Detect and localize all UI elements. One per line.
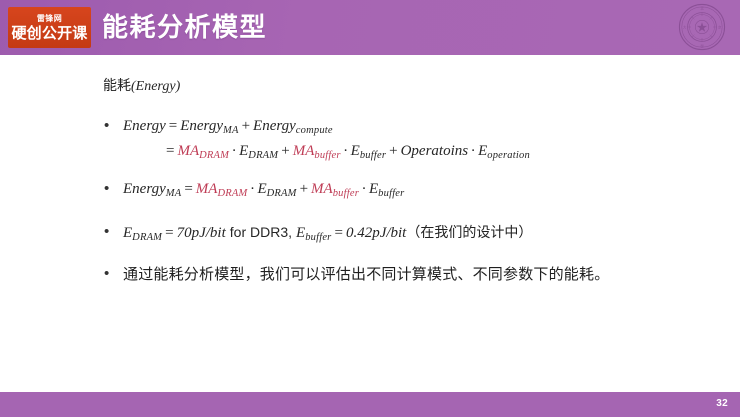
term-ma-buffer-sub: buffer — [314, 150, 340, 161]
svg-text:北: 北 — [700, 6, 704, 11]
term-ma-buffer-base: MA — [293, 143, 315, 159]
lead-line: 能耗(Energy) — [103, 75, 180, 98]
term-e-buffer-sub: buffer — [378, 188, 404, 199]
formula-energy-ma: EnergyMA=MADRAM·EDRAM+MAbuffer·Ebuffer — [123, 178, 404, 202]
term-ma-buffer-sub: buffer — [333, 188, 359, 199]
summary-text: 通过能耗分析模型，我们可以评估出不同计算模式、不同参数下的能耗。 — [123, 263, 609, 286]
formula-line-1: EnergyMA=MADRAM·EDRAM+MAbuffer·Ebuffer — [123, 178, 404, 202]
note-our-design: （在我们的设计中） — [406, 224, 532, 240]
formula-line-1: EDRAM=70pJ/bitfor DDR3,Ebuffer=0.42pJ/bi… — [123, 221, 532, 246]
lead-line-en: (Energy) — [131, 79, 180, 94]
term-ma-dram-sub: DRAM — [217, 188, 247, 199]
term-e-dram-base: E — [123, 225, 132, 241]
term-ma-dram-base: MA — [177, 143, 199, 159]
term-e-operation-sub: operation — [487, 150, 530, 161]
term-e-operation-base: E — [478, 143, 487, 159]
term-e-buffer-base: E — [369, 181, 378, 197]
operator-dot-2: · — [359, 181, 369, 197]
term-e-buffer-sub: buffer — [360, 150, 386, 161]
term-e-dram-sub: DRAM — [248, 150, 278, 161]
operator-plus: + — [239, 118, 253, 134]
slide-content: 能耗(Energy) • Energy=EnergyMA+Energycompu… — [0, 55, 740, 392]
bullet-item-energy-total: • Energy=EnergyMA+Energycompute =MADRAM·… — [101, 115, 530, 164]
formula-energy-total: Energy=EnergyMA+Energycompute =MADRAM·ED… — [123, 115, 530, 164]
term-energy-base: Energy — [123, 181, 166, 197]
term-operations: Operatoins — [401, 143, 469, 159]
operator-equals-1: = — [162, 225, 176, 241]
term-ma-buffer-base: MA — [311, 181, 333, 197]
university-seal-logo: 北 學 大 京 — [678, 3, 726, 51]
term-e-buffer-sub: buffer — [305, 232, 331, 243]
label-ddr3: for DDR3, — [226, 224, 296, 240]
operator-plus: + — [297, 181, 311, 197]
term-e-dram-base: E — [257, 181, 266, 197]
summary-body: 通过能耗分析模型，我们可以评估出不同计算模式、不同参数下的能耗。 — [123, 263, 609, 286]
term-energy-ma-sub: MA — [223, 125, 239, 136]
operator-plus-1: + — [278, 143, 292, 159]
term-e-dram-base: E — [239, 143, 248, 159]
term-energy-ma-base: Energy — [180, 118, 223, 134]
slide-header: 雷锋网 硬创公开课 能耗分析模型 — [0, 0, 740, 55]
term-energy: Energy — [123, 118, 166, 134]
value-e-dram: 70pJ/bit — [177, 225, 226, 241]
brand-badge-main-label: 硬创公开课 — [11, 24, 87, 43]
operator-plus-2: + — [386, 143, 400, 159]
page-title: 能耗分析模型 — [102, 11, 267, 44]
bullet-marker: • — [101, 263, 123, 285]
formula-line-1: Energy=EnergyMA+Energycompute — [123, 115, 530, 139]
lead-line-cn: 能耗 — [103, 77, 131, 93]
svg-text:京: 京 — [718, 24, 722, 29]
brand-badge: 雷锋网 硬创公开课 — [8, 7, 91, 48]
term-e-buffer-base: E — [351, 143, 360, 159]
operator-equals-2: = — [331, 225, 345, 241]
term-energy-compute-base: Energy — [253, 118, 296, 134]
term-ma-dram-sub: DRAM — [199, 150, 229, 161]
operator-dot-1: · — [229, 143, 239, 159]
term-energy-sub: MA — [166, 188, 182, 199]
value-e-buffer: 0.42pJ/bit — [346, 225, 406, 241]
operator-equals-2: = — [163, 143, 177, 159]
bullet-item-summary: • 通过能耗分析模型，我们可以评估出不同计算模式、不同参数下的能耗。 — [101, 263, 609, 286]
operator-equals: = — [166, 118, 180, 134]
bullet-marker: • — [101, 115, 123, 137]
slide-footer: 32 — [0, 392, 740, 417]
term-ma-dram-base: MA — [196, 181, 218, 197]
bullet-marker: • — [101, 178, 123, 200]
term-e-dram-sub: DRAM — [267, 188, 297, 199]
operator-equals: = — [181, 181, 195, 197]
term-e-buffer-base: E — [296, 225, 305, 241]
formula-energy-constants: EDRAM=70pJ/bitfor DDR3,Ebuffer=0.42pJ/bi… — [123, 221, 532, 246]
operator-dot-3: · — [468, 143, 478, 159]
operator-dot-2: · — [341, 143, 351, 159]
bullet-marker: • — [101, 221, 123, 243]
svg-text:大: 大 — [683, 24, 687, 29]
term-e-dram-sub: DRAM — [132, 232, 162, 243]
brand-badge-top-label: 雷锋网 — [37, 14, 62, 24]
bullet-item-energy-constants: • EDRAM=70pJ/bitfor DDR3,Ebuffer=0.42pJ/… — [101, 221, 532, 246]
bullet-item-energy-ma: • EnergyMA=MADRAM·EDRAM+MAbuffer·Ebuffer — [101, 178, 404, 202]
formula-line-2: =MADRAM·EDRAM+MAbuffer·Ebuffer+Operatoin… — [123, 140, 530, 164]
operator-dot-1: · — [247, 181, 257, 197]
term-energy-compute-sub: compute — [296, 125, 333, 136]
svg-text:學: 學 — [700, 44, 704, 49]
slide: 雷锋网 硬创公开课 能耗分析模型 — [0, 0, 740, 417]
page-number: 32 — [716, 397, 728, 411]
